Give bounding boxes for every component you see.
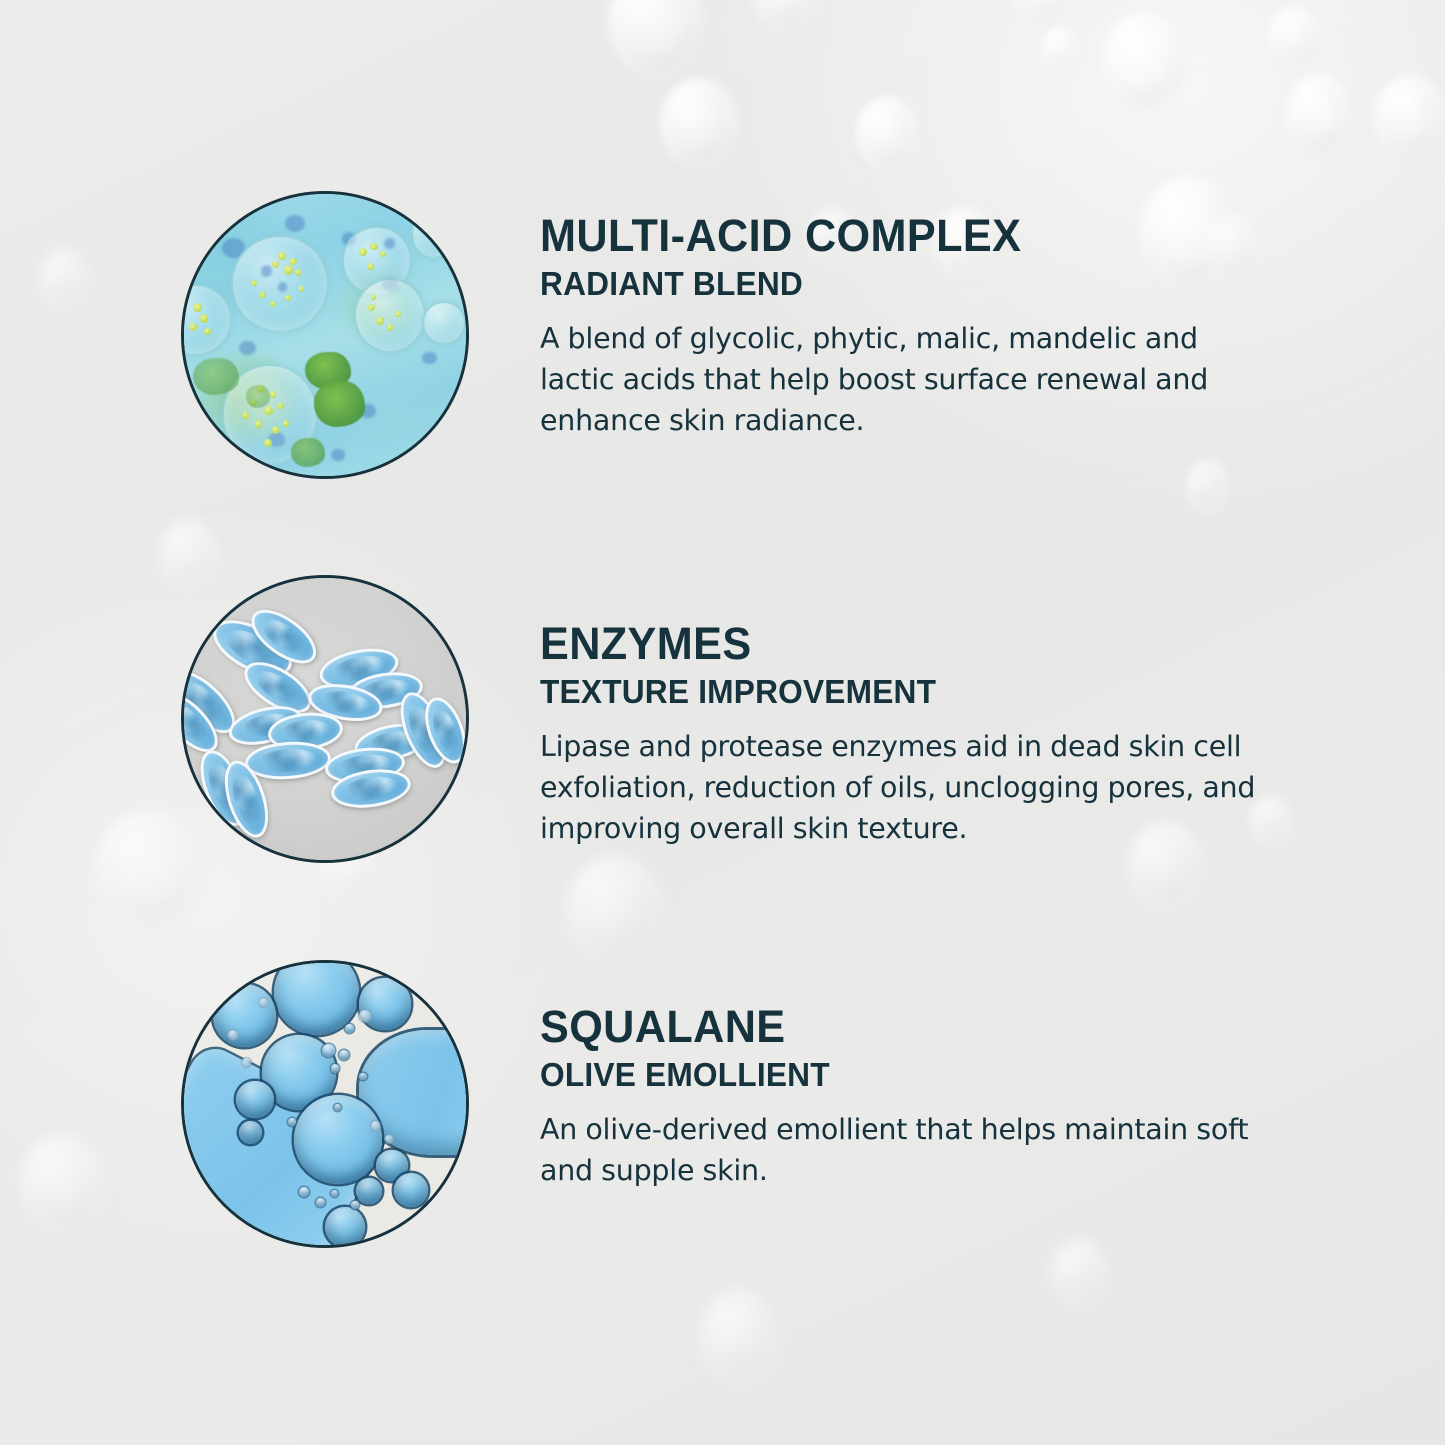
feature-list: MULTI-ACID COMPLEX RADIANT BLEND A blend…: [0, 0, 1445, 1445]
feature-title: ENZYMES: [540, 619, 1231, 669]
feature-description: A blend of glycolic, phytic, malic, mand…: [540, 318, 1256, 441]
microscopy-algae-cells-circle: [181, 191, 469, 479]
feature-subtitle: OLIVE EMOLLIENT: [540, 1055, 1231, 1095]
feature-copy: SQUALANE OLIVE EMOLLIENT An olive-derive…: [540, 1002, 1260, 1191]
feature-subtitle: RADIANT BLEND: [540, 264, 1231, 304]
feature-description: Lipase and protease enzymes aid in dead …: [540, 726, 1256, 849]
ingredient-benefits-panel: MULTI-ACID COMPLEX RADIANT BLEND A blend…: [0, 0, 1445, 1445]
feature-copy: ENZYMES TEXTURE IMPROVEMENT Lipase and p…: [540, 619, 1260, 849]
feature-title: MULTI-ACID COMPLEX: [540, 211, 1231, 261]
microscopy-enzyme-cells-circle: [181, 575, 469, 863]
feature-copy: MULTI-ACID COMPLEX RADIANT BLEND A blend…: [540, 211, 1260, 441]
feature-description: An olive-derived emollient that helps ma…: [540, 1109, 1256, 1191]
feature-subtitle: TEXTURE IMPROVEMENT: [540, 672, 1231, 712]
feature-title: SQUALANE: [540, 1002, 1231, 1052]
macro-blue-oil-bubbles-circle: [181, 960, 469, 1248]
